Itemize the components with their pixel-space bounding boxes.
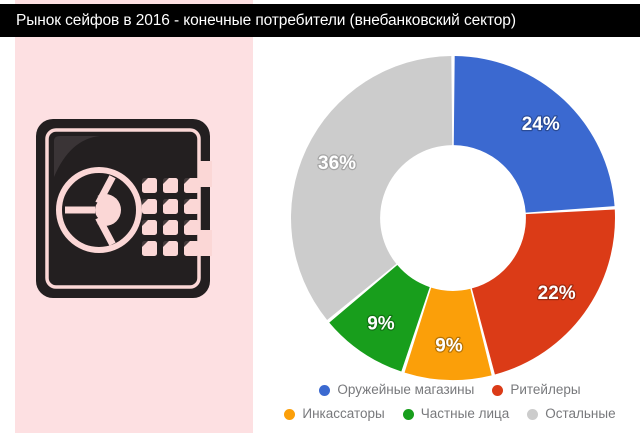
donut-slice[interactable] — [291, 56, 452, 320]
donut-slice-value-label: 22% — [538, 283, 576, 304]
donut-slice-value-label: 36% — [318, 153, 356, 174]
donut-slice-value-label: 9% — [367, 313, 395, 334]
legend-item-3[interactable]: Частные лица — [403, 406, 510, 422]
legend-row: Инкассаторы Частные лица Остальные — [260, 402, 640, 426]
legend-swatch-icon — [319, 385, 330, 396]
legend-label: Ритейлеры — [510, 382, 580, 398]
legend-item-4[interactable]: Остальные — [527, 406, 615, 422]
legend-label: Частные лица — [421, 406, 510, 422]
chart-legend: Оружейные магазины Ритейлеры Инкассаторы… — [260, 378, 640, 433]
page-title: Рынок сейфов в 2016 - конечные потребите… — [0, 4, 516, 37]
legend-item-0[interactable]: Оружейные магазины — [319, 382, 474, 398]
legend-label: Инкассаторы — [302, 406, 384, 422]
chart-title-bar: Рынок сейфов в 2016 - конечные потребите… — [0, 4, 640, 37]
legend-item-1[interactable]: Ритейлеры — [492, 382, 580, 398]
legend-item-2[interactable]: Инкассаторы — [284, 406, 384, 422]
illustration-panel — [15, 0, 253, 433]
donut-slice-value-label: 24% — [522, 114, 560, 135]
legend-swatch-icon — [403, 409, 414, 420]
legend-label: Оружейные магазины — [337, 382, 474, 398]
donut-slices — [291, 56, 615, 380]
legend-label: Остальные — [545, 406, 615, 422]
chart-area: 24%22%9%9%36% Оружейные магазины Ритейле… — [260, 40, 640, 433]
legend-swatch-icon — [492, 385, 503, 396]
legend-swatch-icon — [284, 409, 295, 420]
safe-icon — [34, 117, 234, 300]
legend-swatch-icon — [527, 409, 538, 420]
legend-row: Оружейные магазины Ритейлеры — [260, 378, 640, 402]
donut-slice-value-label: 9% — [435, 336, 463, 357]
chart-screenshot: Рынок сейфов в 2016 - конечные потребите… — [0, 0, 640, 433]
donut-chart: 24%22%9%9%36% — [283, 48, 623, 388]
